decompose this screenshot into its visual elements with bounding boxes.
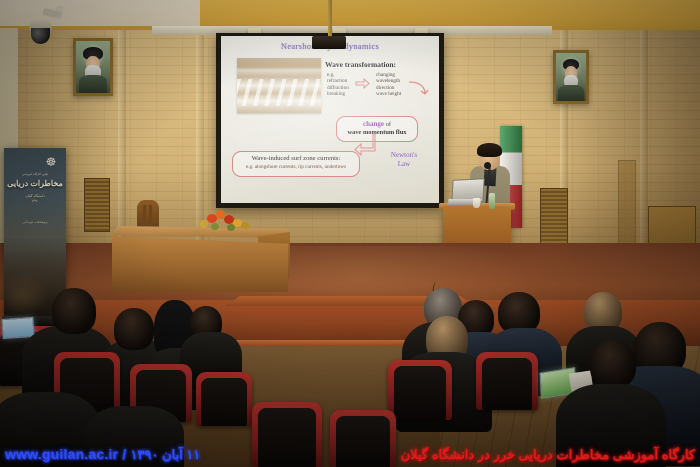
footer-date: ۱۱ آبان ۱۳۹۰: [130, 447, 200, 462]
arrow-curved-down-icon: [407, 80, 429, 104]
banner-detail-lines-secondary: پژوهشکده حوزه آبی: [10, 220, 60, 224]
audience-seat-cushion: [336, 416, 390, 467]
slide-change-line1: change of: [337, 120, 417, 128]
slide-change-rest: of: [384, 121, 391, 128]
slide-surf-line1: Wave-induced surf zone currents:: [233, 155, 359, 162]
framed-portrait-left: [73, 38, 113, 96]
banner-subtitle: اولین کارگاه آموزشی: [7, 172, 63, 176]
banner-detail-lines: دانشگاه گیلان ۱۳۹۰: [10, 194, 60, 204]
framed-portrait-right: [553, 50, 589, 104]
banner-title: مخاطرات دریایی: [4, 179, 66, 188]
slide-surf-currents-box: Wave-induced surf zone currents: e.g. al…: [232, 151, 360, 177]
footer-website-url: www.guilan.ac.ir: [5, 446, 118, 462]
banner-emblem-icon: ☸: [44, 154, 58, 170]
slide-effects-list: changing wavelength direction wave heigh…: [376, 72, 401, 98]
photograph-conference-hall: Nearshore Hydrodynamics Wave transformat…: [0, 0, 700, 467]
projector-mount-rod: [328, 0, 332, 38]
audience-person-head: [52, 288, 96, 334]
flower-arrangement: [195, 208, 257, 234]
projection-screen: Nearshore Hydrodynamics Wave transformat…: [221, 36, 439, 203]
audience-person-head: [114, 308, 154, 350]
audience-seat-cushion: [482, 358, 532, 410]
slide-beach-photo: [237, 58, 321, 113]
event-rollup-banner: ☸ اولین کارگاه آموزشی مخاطرات دریایی دان…: [4, 148, 66, 318]
drinking-cup: [473, 198, 480, 208]
water-bottle: [489, 193, 495, 209]
slide-wave-transformation-heading: Wave transformation:: [325, 60, 396, 69]
audience-person-head: [590, 340, 636, 388]
audience-seat-cushion: [394, 366, 446, 420]
portrait-robe: [558, 85, 583, 101]
footer-left-caption: www.guilan.ac.ir / ۱۱ آبان ۱۳۹۰: [5, 446, 200, 463]
presentation-desk-front: [112, 236, 288, 292]
presenter-hair: [477, 143, 502, 157]
wall-louver-left: [84, 178, 110, 232]
arrow-right-icon: [355, 76, 370, 87]
slide-surf-line2: e.g. alongshore currents, rip currents, …: [233, 164, 359, 170]
wall-louver-right: [540, 188, 568, 244]
chair-slat: [143, 205, 146, 227]
audience-seat-cushion: [201, 378, 247, 426]
microphone-icon: [484, 162, 491, 169]
projector-unit: [312, 36, 346, 49]
footer-right-caption: کارگاه آموزشی مخاطرات دریایی خرر در دانش…: [401, 447, 695, 463]
portrait-robe: [79, 75, 108, 93]
slide-newtons-law-label: Newton's Law: [381, 151, 427, 169]
slide-causes-list: e.g. refraction diffraction breaking: [327, 72, 349, 98]
slide-change-accent: change: [363, 120, 384, 128]
chair-slat: [149, 205, 152, 227]
audience-seat-cushion: [258, 408, 316, 467]
audience-laptop: [1, 317, 34, 339]
footer-separator: /: [122, 446, 126, 462]
